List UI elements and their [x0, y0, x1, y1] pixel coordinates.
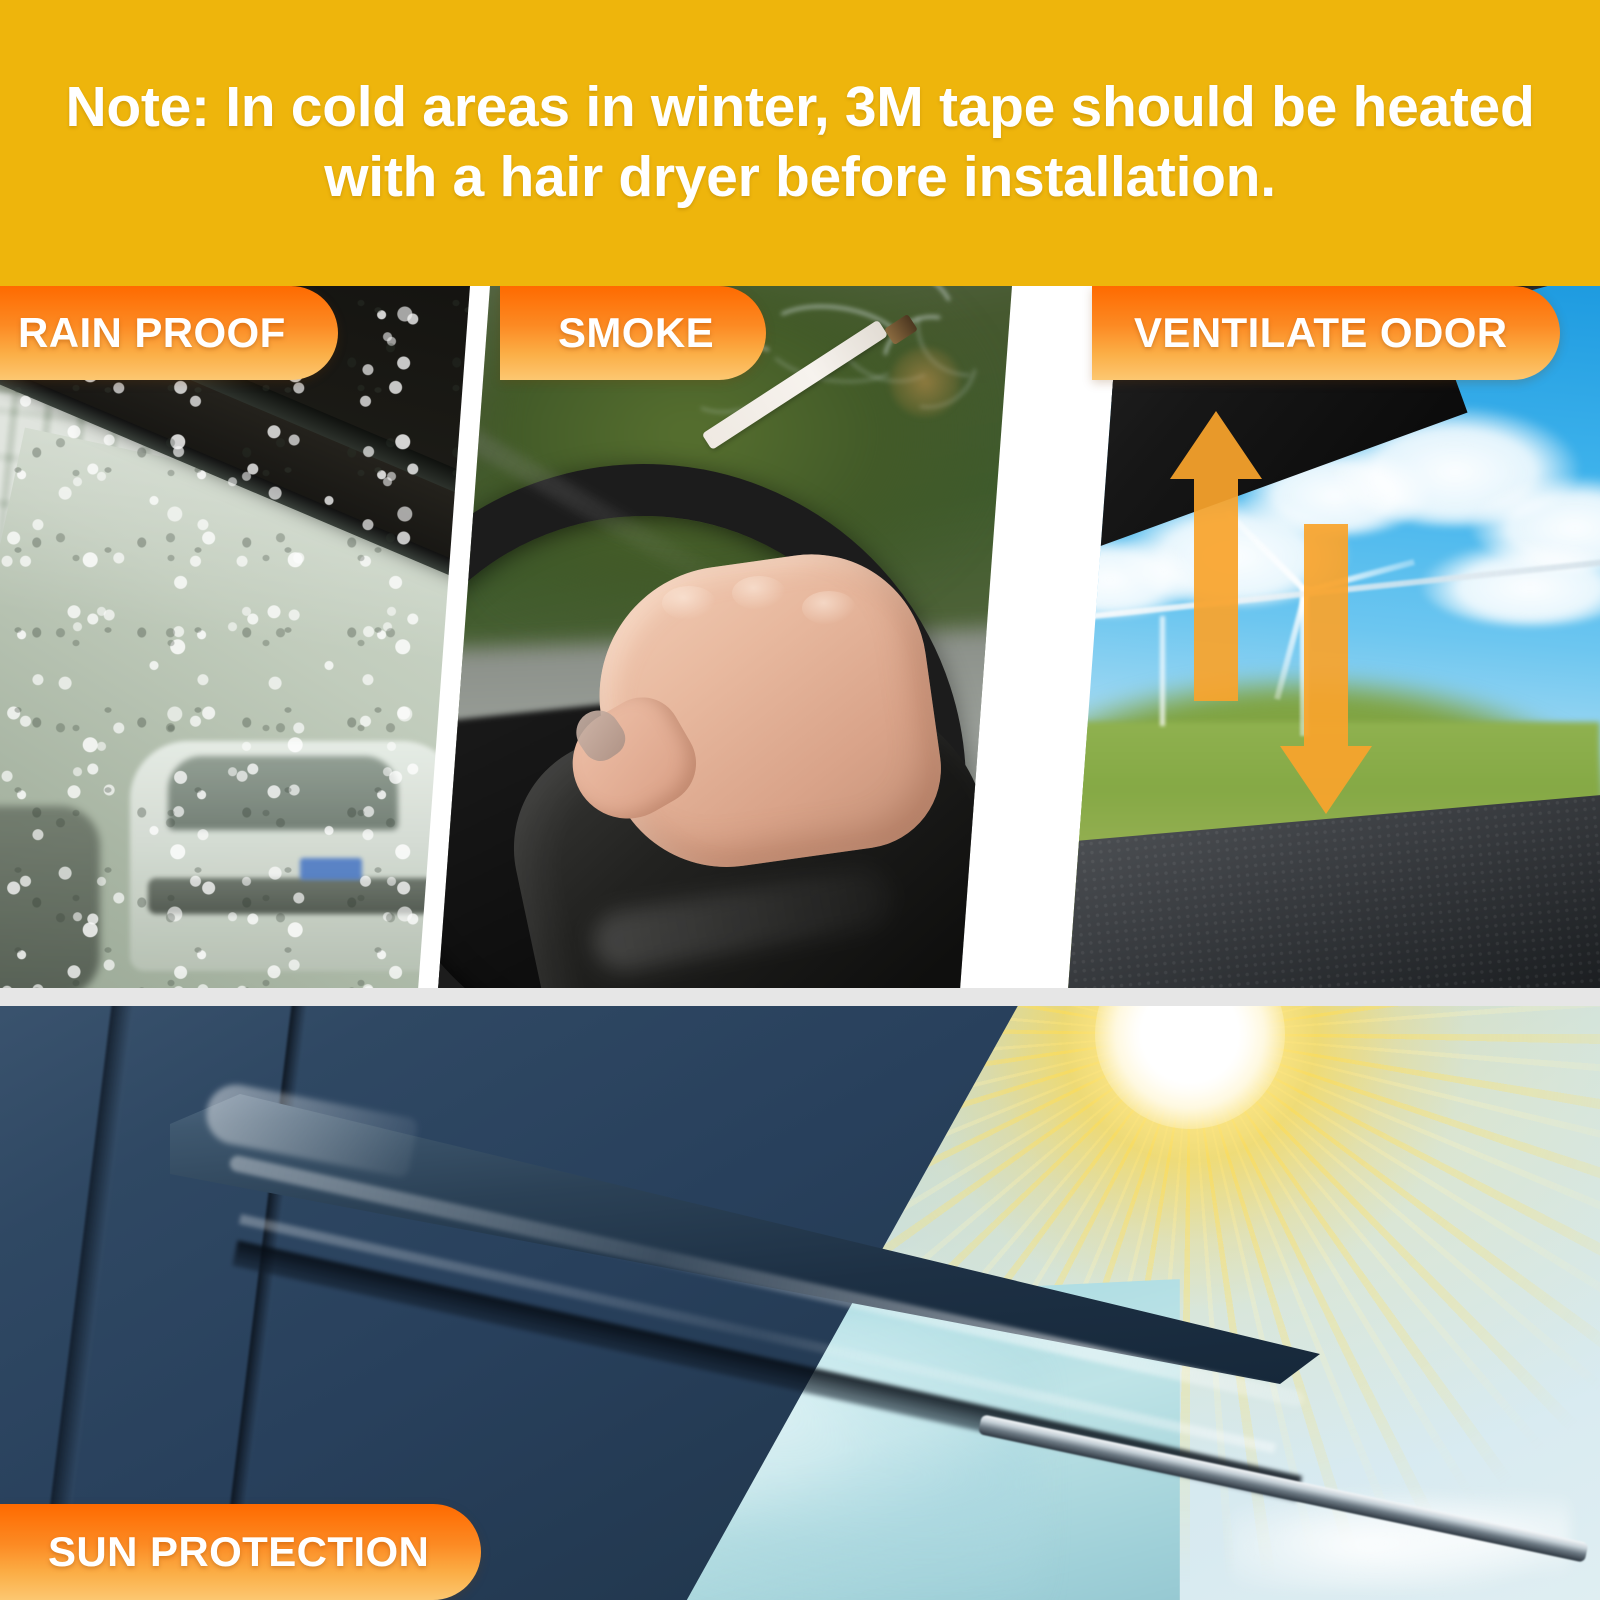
badge-sun-protection-label: SUN PROTECTION [48, 1528, 429, 1576]
wind-turbine-distant-icon [1160, 616, 1165, 726]
panel-smoke [432, 286, 1012, 990]
note-banner: Note: In cold areas in winter, 3M tape s… [0, 0, 1600, 286]
badge-sun-protection: SUN PROTECTION [0, 1504, 481, 1600]
badge-ventilate-odor-label: VENTILATE ODOR [1134, 309, 1508, 357]
smoke-knuckle [802, 591, 856, 625]
panel-ventilate-odor [1000, 286, 1600, 990]
panel-rain-proof [0, 286, 470, 990]
panel-smoke-art [432, 286, 1012, 990]
note-banner-text: Note: In cold areas in winter, 3M tape s… [44, 73, 1556, 212]
product-feature-infographic: Note: In cold areas in winter, 3M tape s… [0, 0, 1600, 1600]
badge-rain-proof-label: RAIN PROOF [18, 309, 286, 357]
badge-rain-proof: RAIN PROOF [0, 286, 338, 380]
airflow-down-arrow-icon [1280, 524, 1372, 814]
badge-ventilate-odor: VENTILATE ODOR [1092, 286, 1560, 380]
panel-rain-art [0, 286, 470, 990]
feature-panel-row [0, 286, 1600, 990]
smoke-knuckle [662, 586, 716, 620]
panel-odor-art [1000, 286, 1600, 990]
rain-droplets-shadow [0, 286, 470, 990]
airflow-up-arrow-icon [1170, 411, 1262, 701]
badge-smoke-label: SMOKE [558, 309, 714, 357]
row-divider [0, 988, 1600, 1006]
smoke-knuckle [732, 576, 786, 610]
badge-smoke: SMOKE [500, 286, 766, 380]
smoke-bokeh-light [887, 346, 963, 418]
